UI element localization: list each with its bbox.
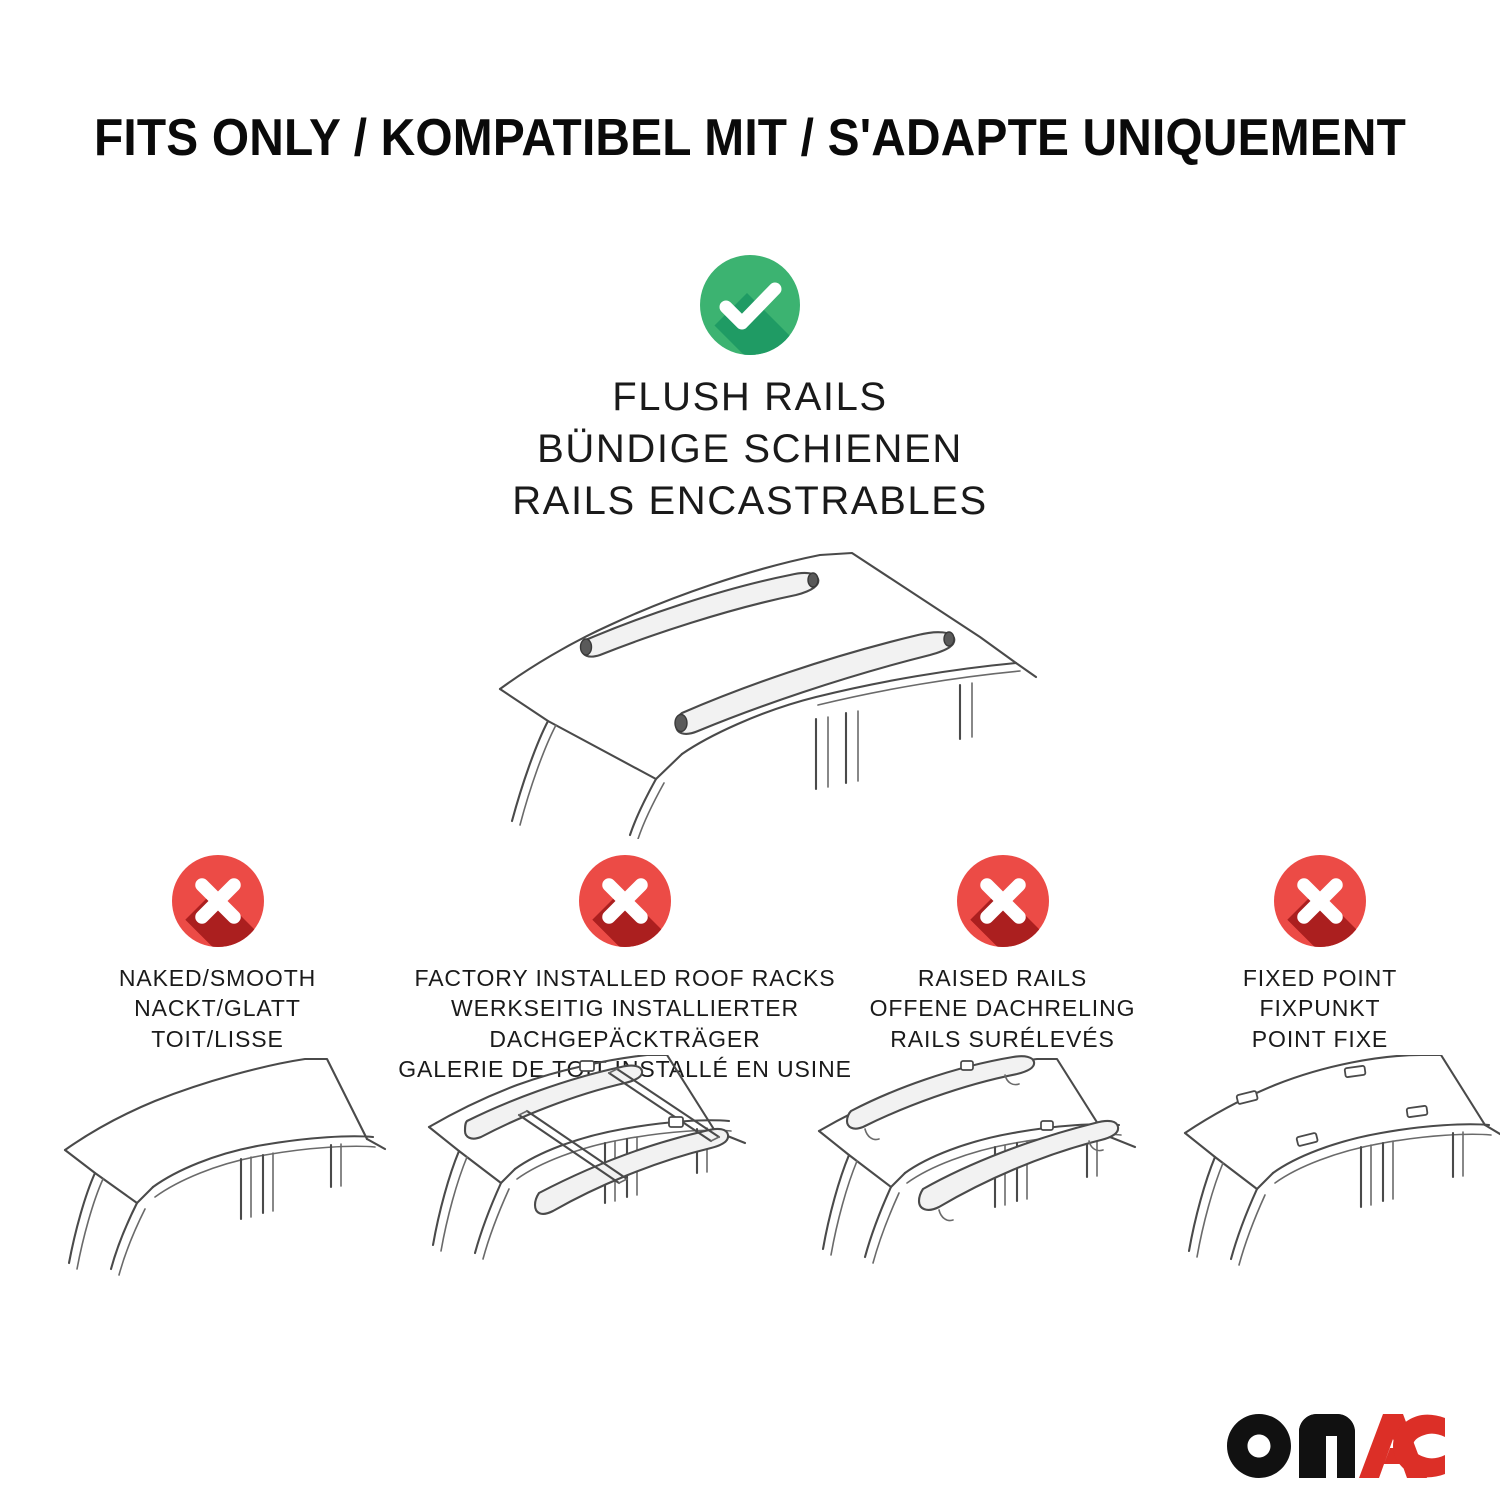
cross-circle-icon	[579, 855, 671, 947]
omac-logo	[1227, 1414, 1445, 1478]
cross-mark-icon	[1274, 855, 1366, 947]
car-roof-fixed-point-illustration	[1175, 1055, 1500, 1285]
incompatible-label-line-en: RAISED RAILS	[870, 963, 1136, 993]
compatible-label: FLUSH RAILS BÜNDIGE SCHIENEN RAILS ENCAS…	[512, 371, 988, 527]
incompatible-label-line-de-1: WERKSEITIG INSTALLIERTER	[398, 993, 852, 1023]
incompatible-label-line-en: FACTORY INSTALLED ROOF RACKS	[398, 963, 852, 993]
compatible-label-fr: RAILS ENCASTRABLES	[512, 475, 988, 527]
incompatible-label: RAISED RAILS OFFENE DACHRELING RAILS SUR…	[870, 963, 1136, 1054]
cross-mark-icon	[957, 855, 1049, 947]
incompatible-item-fixed-point: FIXED POINT FIXPUNKT POINT FIXE	[1185, 855, 1455, 1054]
car-roof-raised-rails-illustration	[805, 1055, 1160, 1285]
omac-letter-o	[1227, 1414, 1291, 1478]
cross-mark-icon	[172, 855, 264, 947]
page-title: FITS ONLY / KOMPATIBEL MIT / S'ADAPTE UN…	[60, 108, 1440, 168]
compatible-label-de: BÜNDIGE SCHIENEN	[512, 423, 988, 475]
incompatible-label-line-fr: RAILS SURÉLEVÉS	[870, 1024, 1136, 1054]
cross-circle-icon	[1274, 855, 1366, 947]
cross-circle-icon	[172, 855, 264, 947]
incompatible-label-line-en: FIXED POINT	[1243, 963, 1397, 993]
incompatible-label-line-fr: TOIT/LISSE	[119, 1024, 316, 1054]
car-roof-naked-smooth-illustration	[55, 1055, 395, 1285]
incompatible-label-line-en: NAKED/SMOOTH	[119, 963, 316, 993]
incompatible-label-line-de: OFFENE DACHRELING	[870, 993, 1136, 1023]
compatible-section: FLUSH RAILS BÜNDIGE SCHIENEN RAILS ENCAS…	[0, 255, 1500, 839]
check-mark-icon	[700, 255, 800, 355]
incompatible-label: FIXED POINT FIXPUNKT POINT FIXE	[1243, 963, 1397, 1054]
incompatible-item-naked-smooth: NAKED/SMOOTH NACKT/GLATT TOIT/LISSE	[75, 855, 360, 1054]
incompatible-label-line-de: NACKT/GLATT	[119, 993, 316, 1023]
incompatible-label-line-de: FIXPUNKT	[1243, 993, 1397, 1023]
fitment-infographic: FITS ONLY / KOMPATIBEL MIT / S'ADAPTE UN…	[0, 0, 1500, 1500]
cross-circle-icon	[957, 855, 1049, 947]
check-circle-icon	[700, 255, 800, 355]
incompatible-label-line-fr: POINT FIXE	[1243, 1024, 1397, 1054]
compatible-label-en: FLUSH RAILS	[512, 371, 988, 423]
cross-mark-icon	[579, 855, 671, 947]
omac-letter-m	[1299, 1414, 1355, 1478]
car-roof-flush-rails-illustration	[460, 539, 1040, 839]
incompatible-item-factory-roof-racks: FACTORY INSTALLED ROOF RACKS WERKSEITIG …	[415, 855, 835, 1084]
incompatible-label: NAKED/SMOOTH NACKT/GLATT TOIT/LISSE	[119, 963, 316, 1054]
incompatible-item-raised-rails: RAISED RAILS OFFENE DACHRELING RAILS SUR…	[840, 855, 1165, 1054]
incompatible-label-line-de-2: DACHGEPÄCKTRÄGER	[398, 1024, 852, 1054]
car-roof-factory-roof-racks-illustration	[415, 1055, 770, 1285]
